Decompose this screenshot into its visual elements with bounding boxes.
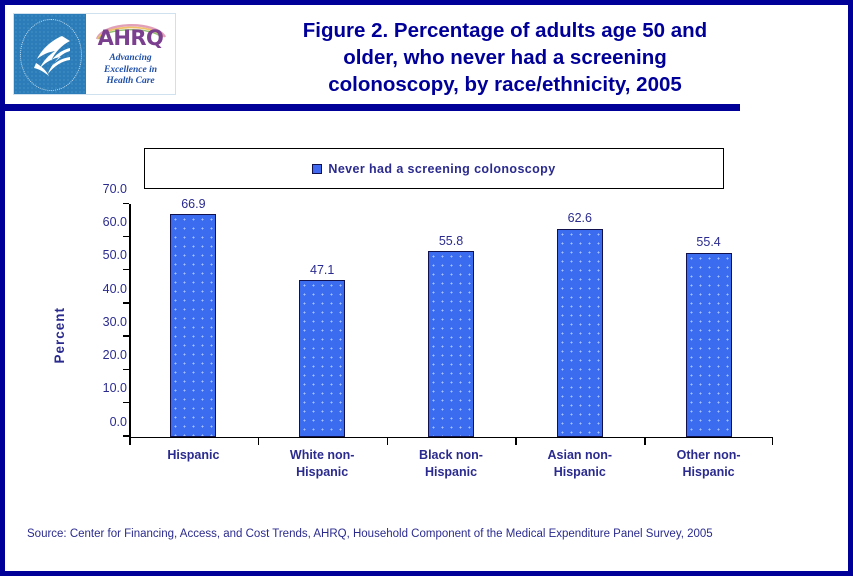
category-label-line: Hispanic xyxy=(644,464,774,481)
tagline-line-3: Health Care xyxy=(86,76,175,88)
y-axis-line xyxy=(129,204,131,438)
x-category-label: Other non-Hispanic xyxy=(644,447,774,481)
category-label-line: Hispanic xyxy=(515,464,645,481)
bar xyxy=(299,280,345,436)
title-line-3: colonoscopy, by race/ethnicity, 2005 xyxy=(185,71,825,98)
y-axis-title: Percent xyxy=(52,307,67,364)
ahrq-logo: AHRQ Advancing Excellence in Health Care xyxy=(13,13,176,95)
x-category-label: Hispanic xyxy=(128,447,258,464)
ahrq-wordmark-block: AHRQ Advancing Excellence in Health Care xyxy=(86,14,175,94)
bar-value-label: 55.4 xyxy=(669,235,749,249)
y-tick xyxy=(123,435,129,437)
category-label-line: Asian non- xyxy=(515,447,645,464)
y-tick xyxy=(123,369,129,371)
figure-header: AHRQ Advancing Excellence in Health Care… xyxy=(5,5,848,105)
hhs-eagle-icon xyxy=(28,30,74,80)
y-tick xyxy=(123,302,129,304)
y-tick-label: 70.0 xyxy=(67,182,127,196)
title-line-1: Figure 2. Percentage of adults age 50 an… xyxy=(185,17,825,44)
ahrq-tagline: Advancing Excellence in Health Care xyxy=(86,53,175,88)
x-category-label: Black non-Hispanic xyxy=(386,447,516,481)
legend-label: Never had a screening colonoscopy xyxy=(328,162,555,176)
y-tick-label: 30.0 xyxy=(67,315,127,329)
category-label-line: Hispanic xyxy=(128,447,258,464)
y-tick-label: 40.0 xyxy=(67,282,127,296)
bar xyxy=(557,229,603,437)
y-tick-label: 0.0 xyxy=(67,415,127,429)
category-label-line: Other non- xyxy=(644,447,774,464)
y-tick xyxy=(123,236,129,238)
x-tick xyxy=(772,438,774,445)
category-label-line: Hispanic xyxy=(386,464,516,481)
y-tick xyxy=(123,269,129,271)
plot-area: 0.010.020.030.040.050.060.070.0 66.947.1… xyxy=(129,204,773,438)
x-category-label: White non-Hispanic xyxy=(257,447,387,481)
x-axis-line xyxy=(129,437,773,439)
x-category-label: Asian non-Hispanic xyxy=(515,447,645,481)
tagline-line-2: Excellence in xyxy=(86,65,175,77)
y-tick-label: 20.0 xyxy=(67,348,127,362)
title-line-2: older, who never had a screening xyxy=(185,44,825,71)
hhs-seal-icon xyxy=(14,14,86,94)
bar-value-label: 66.9 xyxy=(153,197,233,211)
category-label-line: Hispanic xyxy=(257,464,387,481)
legend-swatch-icon xyxy=(312,164,322,174)
tagline-line-1: Advancing xyxy=(86,53,175,65)
y-tick xyxy=(123,203,129,205)
x-tick xyxy=(387,438,389,445)
chart-area: Never had a screening colonoscopy Percen… xyxy=(5,111,848,501)
y-tick-label: 10.0 xyxy=(67,381,127,395)
bar xyxy=(686,253,732,437)
bar-value-label: 55.8 xyxy=(411,234,491,248)
y-tick-label: 60.0 xyxy=(67,215,127,229)
figure-container: AHRQ Advancing Excellence in Health Care… xyxy=(0,0,853,576)
header-divider xyxy=(5,104,740,111)
category-label-line: White non- xyxy=(257,447,387,464)
bar xyxy=(170,214,216,436)
legend-item: Never had a screening colonoscopy xyxy=(312,162,555,176)
bar-value-label: 47.1 xyxy=(282,263,362,277)
x-tick xyxy=(515,438,517,445)
source-note: Source: Center for Financing, Access, an… xyxy=(27,528,827,540)
chart-legend: Never had a screening colonoscopy xyxy=(144,148,724,189)
x-tick xyxy=(644,438,646,445)
y-tick-label: 50.0 xyxy=(67,248,127,262)
bar-value-label: 62.6 xyxy=(540,211,620,225)
x-tick xyxy=(129,438,131,445)
y-tick xyxy=(123,335,129,337)
bar xyxy=(428,251,474,436)
category-label-line: Black non- xyxy=(386,447,516,464)
x-tick xyxy=(258,438,260,445)
ahrq-acronym: AHRQ xyxy=(86,26,175,50)
figure-title: Figure 2. Percentage of adults age 50 an… xyxy=(185,17,825,98)
y-tick xyxy=(123,402,129,404)
